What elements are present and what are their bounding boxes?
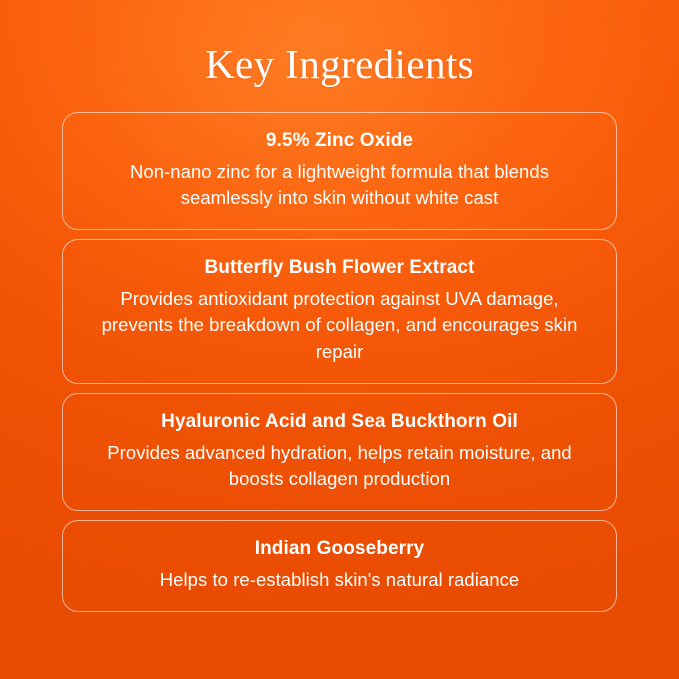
- ingredient-card: Butterfly Bush Flower Extract Provides a…: [62, 239, 617, 384]
- ingredient-description: Provides advanced hydration, helps retai…: [85, 440, 594, 493]
- ingredient-description: Helps to re-establish skin's natural rad…: [85, 567, 594, 593]
- ingredient-description: Provides antioxidant protection against …: [85, 286, 594, 365]
- poster-content: Key Ingredients 9.5% Zinc Oxide Non-nano…: [0, 0, 679, 612]
- ingredient-card-list: 9.5% Zinc Oxide Non-nano zinc for a ligh…: [62, 112, 617, 612]
- ingredient-card: Hyaluronic Acid and Sea Buckthorn Oil Pr…: [62, 393, 617, 511]
- ingredient-name: 9.5% Zinc Oxide: [85, 129, 594, 153]
- page-title: Key Ingredients: [62, 0, 617, 112]
- ingredient-card: 9.5% Zinc Oxide Non-nano zinc for a ligh…: [62, 112, 617, 230]
- ingredient-name: Indian Gooseberry: [85, 537, 594, 561]
- key-ingredients-poster: Key Ingredients 9.5% Zinc Oxide Non-nano…: [0, 0, 679, 679]
- ingredient-card: Indian Gooseberry Helps to re-establish …: [62, 520, 617, 612]
- ingredient-description: Non-nano zinc for a lightweight formula …: [85, 159, 594, 212]
- ingredient-name: Butterfly Bush Flower Extract: [85, 256, 594, 280]
- ingredient-name: Hyaluronic Acid and Sea Buckthorn Oil: [85, 410, 594, 434]
